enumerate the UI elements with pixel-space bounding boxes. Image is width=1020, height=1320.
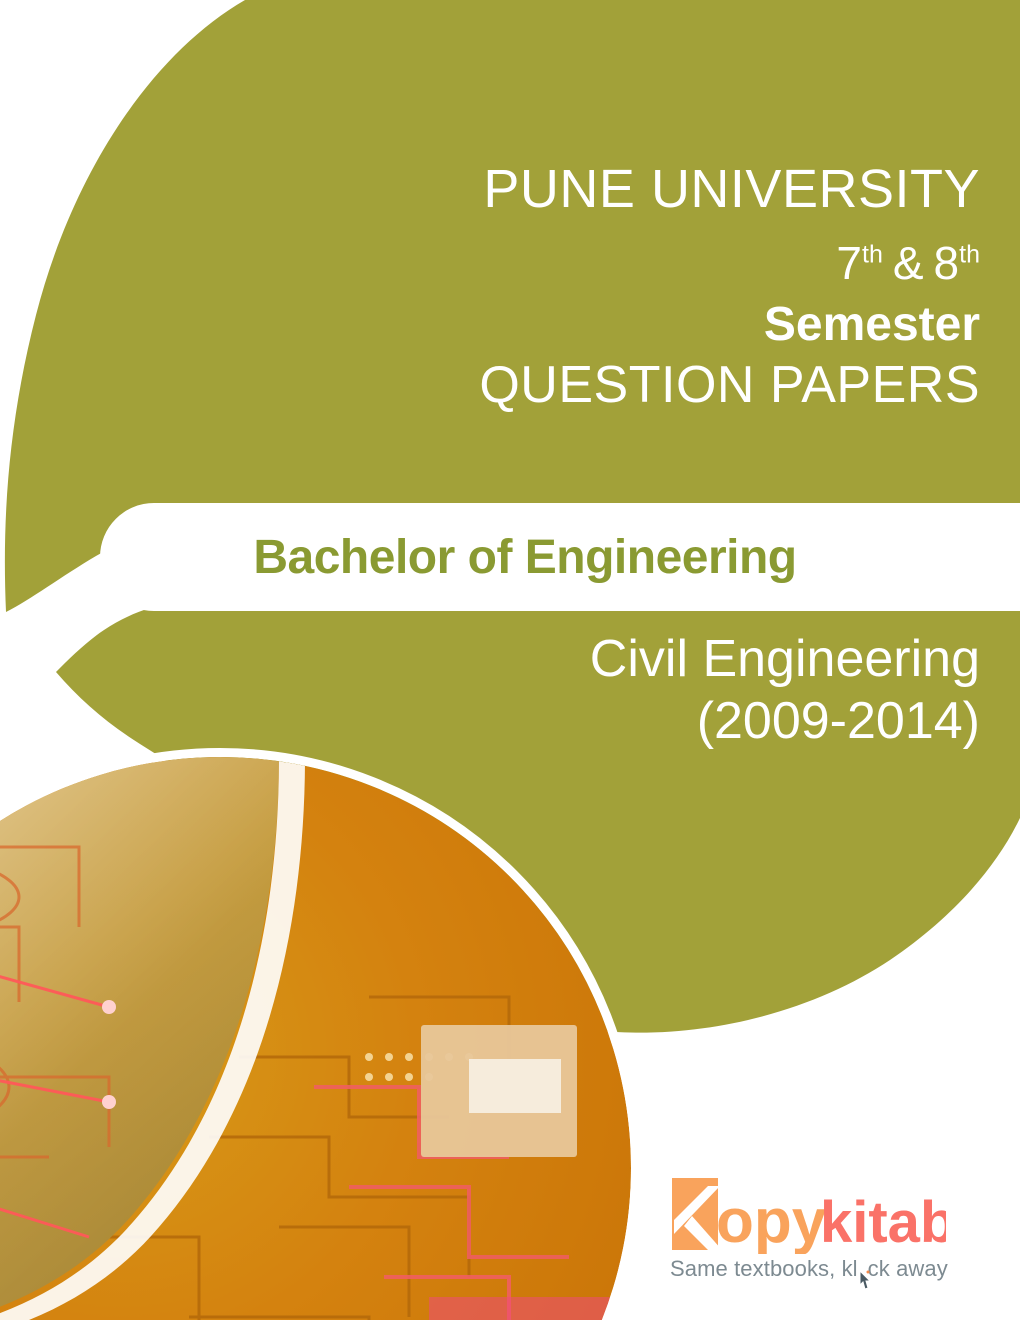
ampersand: & — [893, 237, 924, 289]
subject-block: Civil Engineering (2009-2014) — [120, 628, 980, 752]
semester-first-number: 7 — [836, 237, 862, 289]
logo-tagline-after: ck away — [868, 1256, 948, 1281]
logo-brand-second: kitab — [820, 1190, 946, 1254]
university-name: PUNE UNIVERSITY — [120, 158, 980, 220]
semester-second-suffix: th — [959, 241, 980, 269]
degree-name: Bachelor of Engineering — [100, 530, 1020, 585]
degree-banner: Bachelor of Engineering — [100, 503, 1020, 611]
logo-brand-first: opy — [716, 1187, 827, 1254]
kopykitab-logo: opy kitab Same textbooks, kl ck away — [668, 1176, 946, 1294]
semester-number: 7th&8th — [120, 230, 980, 296]
book-cover: PUNE UNIVERSITY 7th&8th Semester QUESTIO… — [0, 0, 1020, 1320]
subject-name: Civil Engineering — [120, 628, 980, 690]
semester-second-number: 8 — [934, 237, 960, 289]
logo-tagline: Same textbooks, kl ck away — [670, 1256, 948, 1282]
title-block: PUNE UNIVERSITY 7th&8th Semester QUESTIO… — [120, 158, 980, 416]
click-cursor-icon — [857, 1270, 871, 1292]
subject-years: (2009-2014) — [120, 690, 980, 752]
logo-wordmark: opy kitab — [668, 1176, 946, 1254]
semester-word: Semester — [120, 296, 980, 354]
semester-first-suffix: th — [862, 241, 883, 269]
document-type: QUESTION PAPERS — [120, 354, 980, 416]
logo-tagline-before: Same textbooks, kl — [670, 1256, 858, 1281]
